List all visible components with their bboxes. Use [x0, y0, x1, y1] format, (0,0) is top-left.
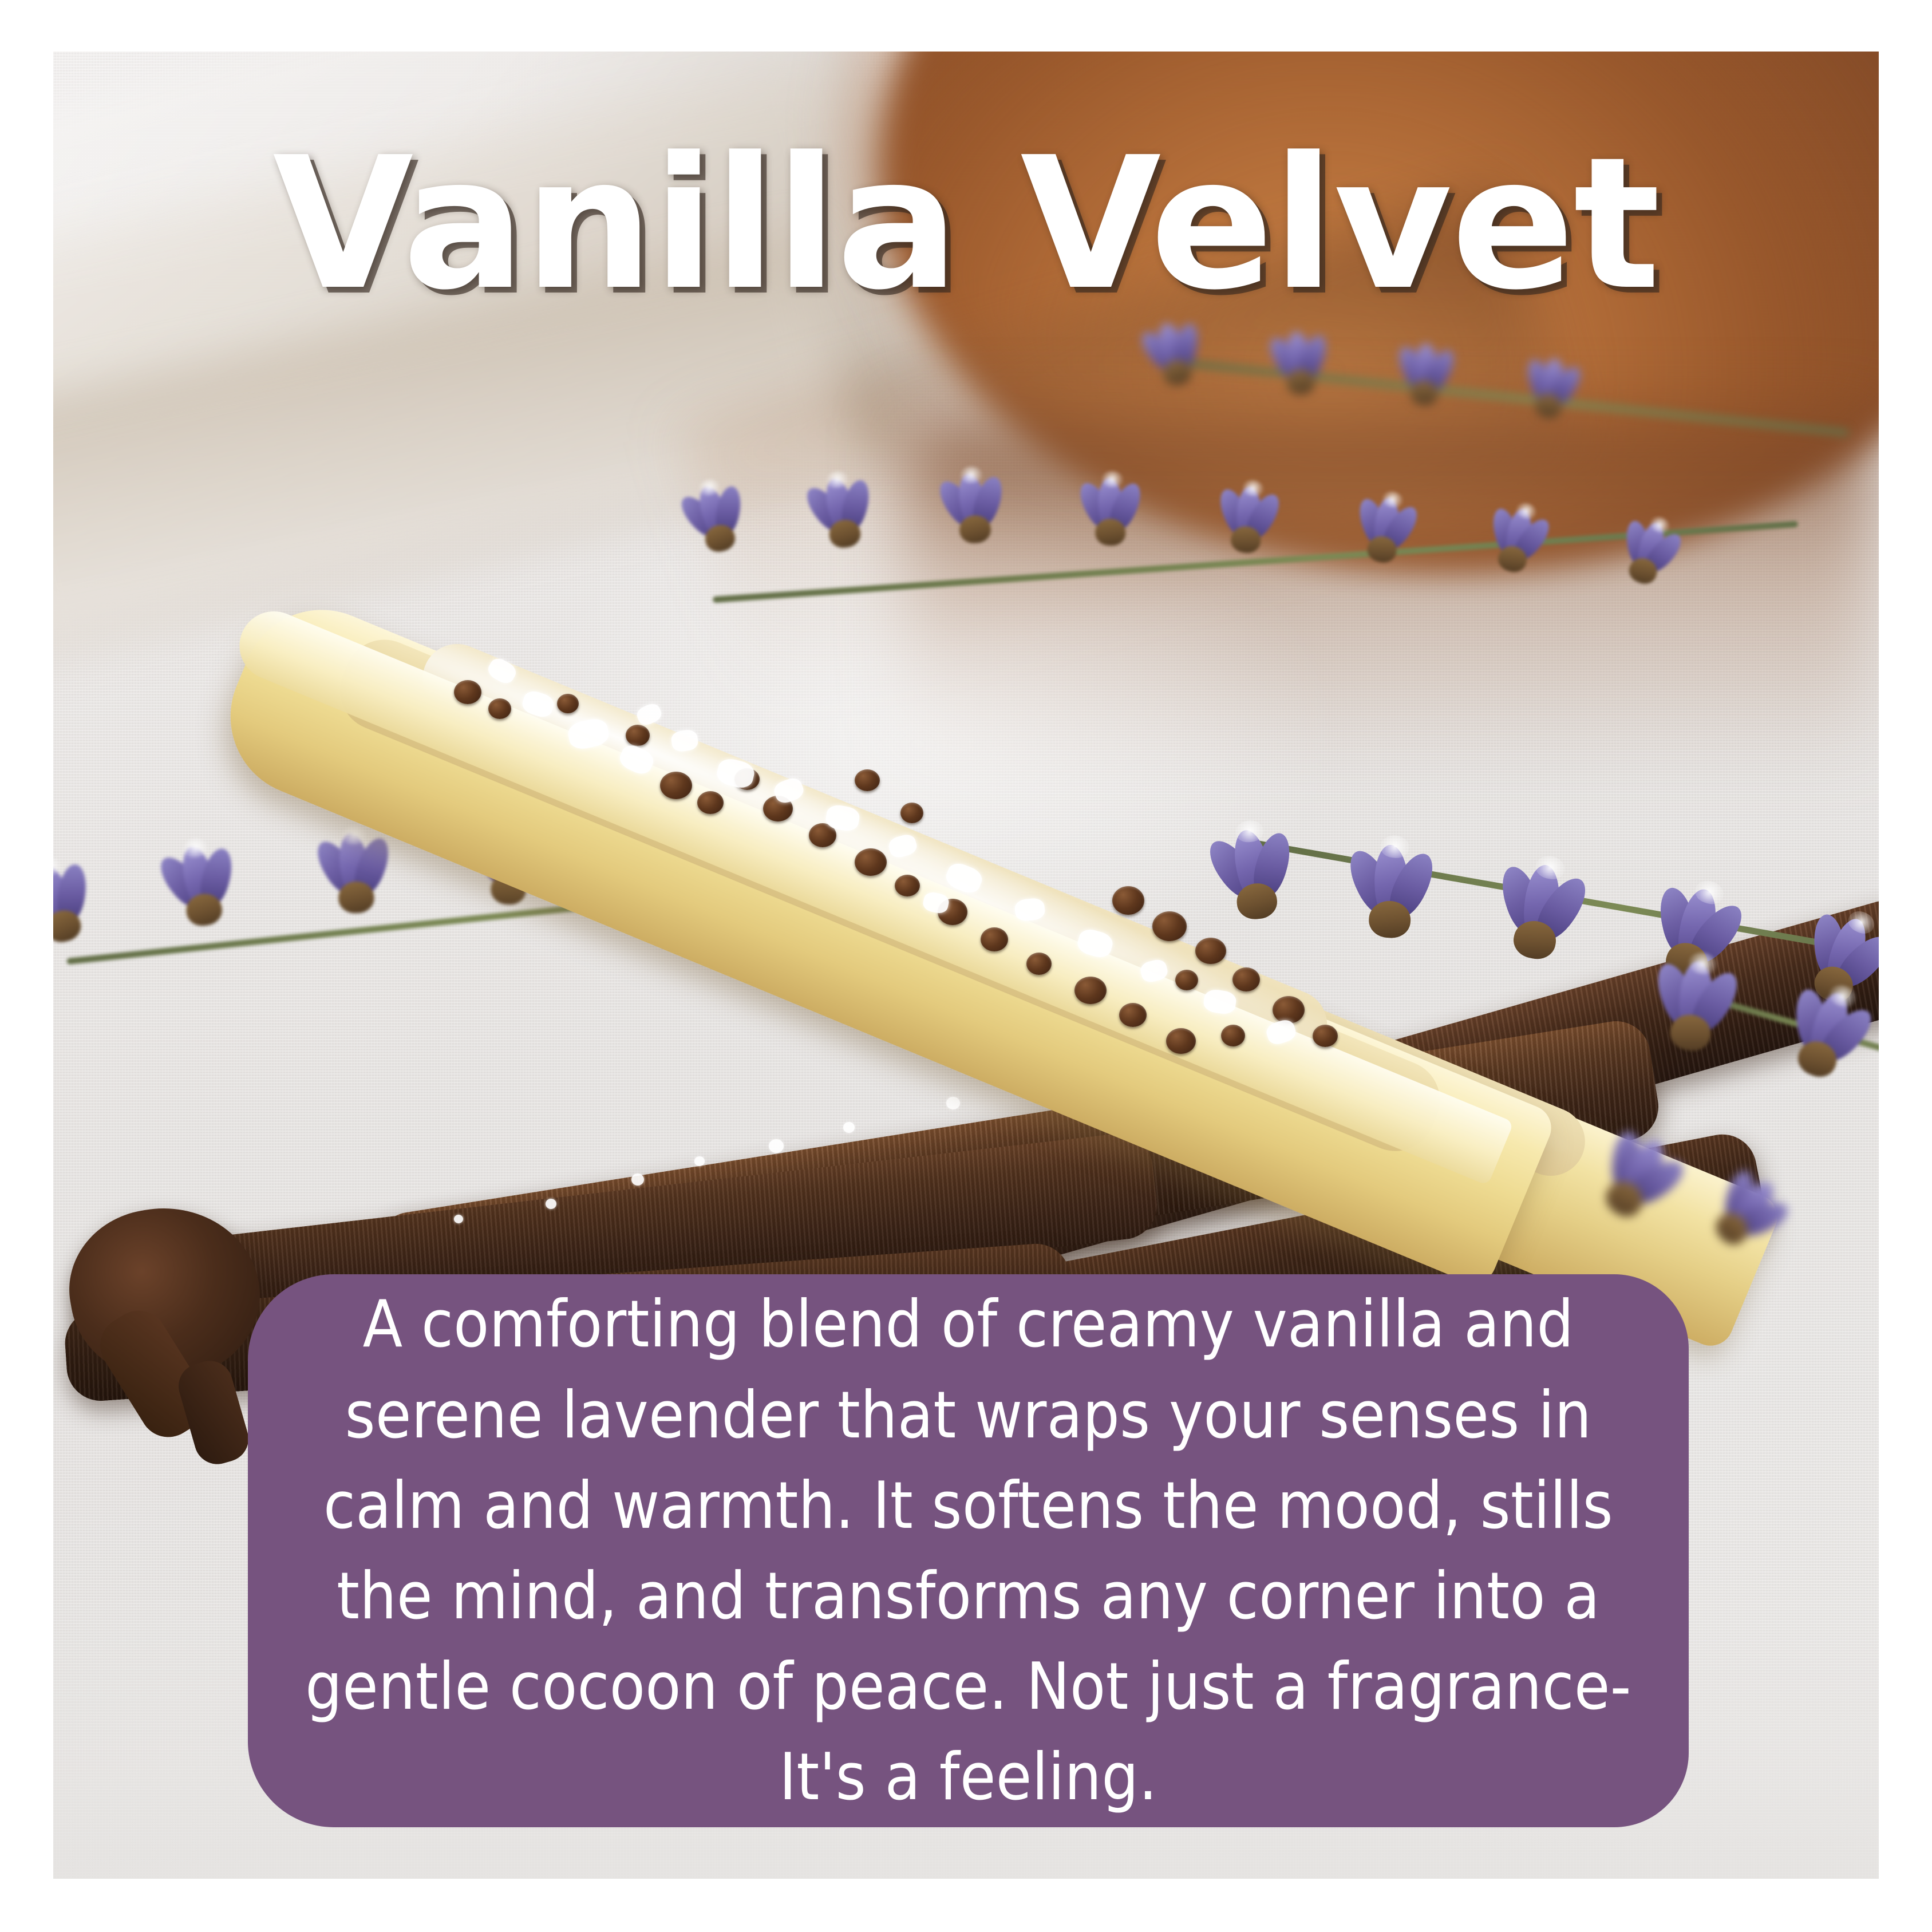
lavender-floret [1350, 843, 1433, 944]
lavender-floret [1492, 858, 1589, 969]
poster-canvas: Vanilla Velvet A comforting blend of cre… [0, 0, 1932, 1932]
lavender-sprig-edge [1668, 910, 1879, 1116]
lavender-floret [1698, 1165, 1795, 1262]
lavender-floret [1212, 826, 1296, 926]
lavender-floret [163, 842, 239, 933]
description-text: A comforting blend of creamy vanilla and… [248, 1279, 1689, 1822]
lavender-sprig-bottom-right [1610, 1111, 1879, 1282]
lavender-floret [1777, 981, 1876, 1091]
lavender-floret [53, 858, 99, 952]
lavender-floret [1650, 955, 1740, 1060]
page-title: Vanilla Velvet [0, 133, 1932, 315]
description-card: A comforting blend of creamy vanilla and… [248, 1274, 1689, 1827]
